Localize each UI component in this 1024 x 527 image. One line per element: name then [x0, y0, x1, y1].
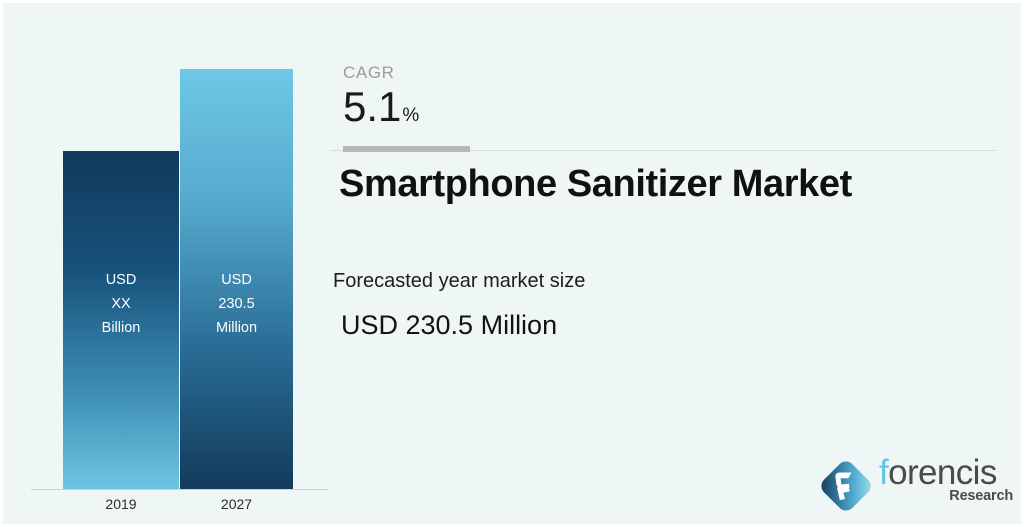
logo-name: forencis	[879, 456, 1015, 490]
bar-2027-amount: 230.5	[180, 293, 293, 317]
forecast-label: Forecasted year market size	[333, 270, 585, 293]
logo-wordmark: forencis Research	[879, 456, 1015, 516]
cagr-value-row: 5.1 %	[343, 85, 419, 129]
cagr-unit: %	[402, 105, 419, 127]
bar-2027-currency: USD	[180, 269, 293, 293]
cagr-value: 5.1	[343, 85, 401, 129]
x-axis-line	[31, 489, 328, 490]
forencis-research-logo: forencis Research	[815, 453, 1015, 519]
forecast-value: USD 230.5 Million	[341, 310, 557, 341]
axis-tick-2027: 2027	[180, 496, 293, 512]
forencis-diamond-bolt-icon	[815, 455, 877, 517]
bar-2027: USD 230.5 Million	[180, 69, 293, 490]
page-title: Smartphone Sanitizer Market	[339, 163, 999, 206]
bar-chart: USD XX Billion USD 230.5 Million 2019 20…	[3, 3, 333, 527]
cagr-label: CAGR	[343, 63, 419, 83]
bar-2027-magnitude: Million	[180, 317, 293, 341]
axis-tick-2019: 2019	[63, 496, 179, 512]
logo-name-lead: f	[879, 453, 888, 492]
bar-2019-label: USD XX Billion	[63, 269, 179, 341]
market-infographic: USD XX Billion USD 230.5 Million 2019 20…	[0, 0, 1024, 527]
bar-2027-label: USD 230.5 Million	[180, 269, 293, 341]
bar-2019-magnitude: Billion	[63, 317, 179, 341]
bar-2019-currency: USD	[63, 269, 179, 293]
bar-2019: USD XX Billion	[63, 151, 179, 490]
bar-2019-amount: XX	[63, 293, 179, 317]
divider-accent	[343, 146, 470, 152]
logo-name-rest: orencis	[888, 453, 997, 492]
cagr-block: CAGR 5.1 %	[343, 63, 419, 129]
